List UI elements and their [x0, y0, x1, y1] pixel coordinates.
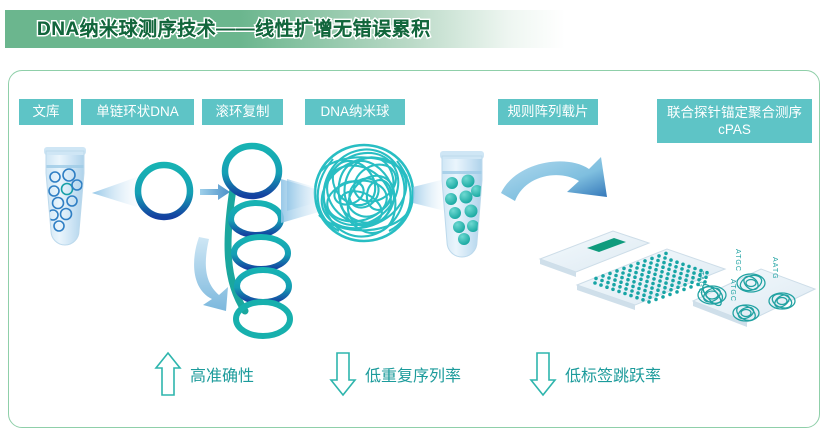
- magnify-cone-3: [413, 179, 445, 211]
- base-call-label-2: ATGC: [729, 279, 736, 302]
- rca-direction-arrow: [194, 237, 228, 311]
- magnify-cone-1: [92, 177, 137, 207]
- stage-tag-dnb: DNA纳米球: [305, 99, 405, 125]
- stage-tag-library: 文库: [19, 99, 73, 125]
- stage-tag-patterned-array: 规则阵列载片: [498, 99, 598, 125]
- loading-arrow: [501, 157, 607, 201]
- process-illustration: TAGC ATGC ATGC AATG: [9, 131, 821, 371]
- stage-tag-rca: 滚环复制: [202, 99, 283, 125]
- metric-duplicates: 低重复序列率: [329, 351, 461, 397]
- arrow-up-icon: [154, 351, 182, 397]
- base-call-label-0: TAGC: [697, 271, 704, 294]
- arrow-down-icon-2: [529, 351, 557, 397]
- sequencing-slide-icon: TAGC ATGC ATGC AATG: [693, 249, 815, 327]
- page-title: DNA纳米球测序技术——线性扩增无错误累积: [37, 15, 597, 45]
- base-call-label-1: ATGC: [734, 249, 741, 272]
- step-arrow-1: [200, 184, 230, 200]
- metric-duplicates-label: 低重复序列率: [365, 362, 461, 386]
- circular-dna-ring: [138, 165, 190, 217]
- base-call-label-3: AATG: [771, 257, 778, 280]
- metric-index-hop: 低标签跳跃率: [529, 351, 661, 397]
- metric-accuracy: 高准确性: [154, 351, 254, 397]
- metric-index-hop-label: 低标签跳跃率: [565, 362, 661, 386]
- arrow-down-icon: [329, 351, 357, 397]
- diagram-panel: 文库 单链环状DNA 滚环复制 DNA纳米球 规则阵列载片 联合探针锚定聚合测序…: [8, 70, 820, 428]
- rolling-circle-amplification: [225, 146, 290, 336]
- stage-tag-ss-circ-dna: 单链环状DNA: [81, 99, 194, 125]
- metric-accuracy-label: 高准确性: [190, 362, 254, 386]
- nanoball-tube-icon: [440, 151, 484, 257]
- library-tube-icon: [44, 147, 86, 245]
